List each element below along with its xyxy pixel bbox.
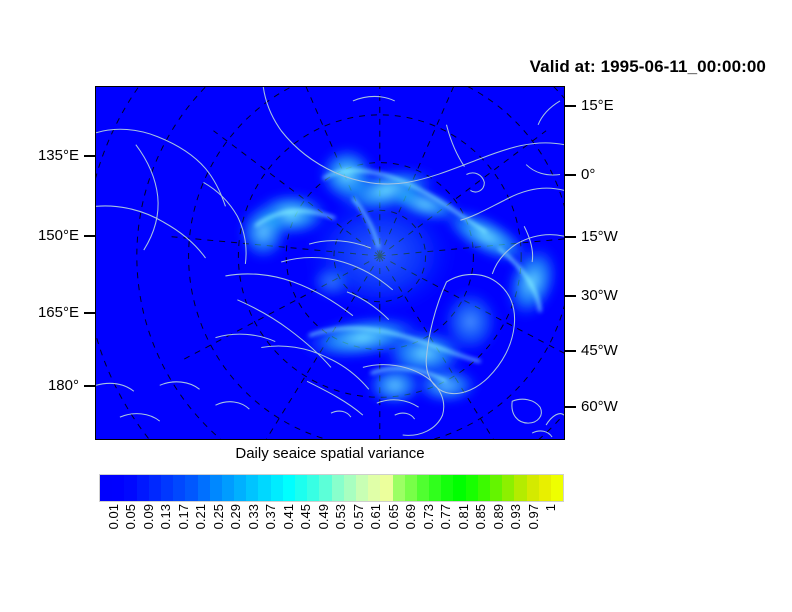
tick-mark-right-3: [565, 295, 576, 297]
tick-mark-left-0: [84, 155, 95, 157]
colorbar-cell-12: [246, 475, 258, 501]
colorbar-tick-14: 0.57: [352, 504, 365, 529]
axis-label-right-1: 0°: [581, 167, 595, 182]
colorbar-gradient: [99, 474, 564, 502]
colorbar-cell-11: [234, 475, 246, 501]
colorbar-tick-16: 0.65: [387, 504, 400, 529]
tick-mark-right-4: [565, 350, 576, 352]
colorbar-tick-23: 0.93: [509, 504, 522, 529]
colorbar-tick-22: 0.89: [492, 504, 505, 529]
colorbar-cell-31: [478, 475, 490, 501]
colorbar-cell-5: [161, 475, 173, 501]
colorbar-cell-33: [502, 475, 514, 501]
colorbar-cell-10: [222, 475, 234, 501]
map-plot-area: [95, 86, 565, 440]
axis-label-left-0: 135°E: [38, 148, 79, 163]
tick-mark-left-2: [84, 312, 95, 314]
colorbar-tick-6: 0.25: [212, 504, 225, 529]
colorbar-caption: Daily seaice spatial variance: [95, 445, 565, 462]
colorbar-cell-16: [295, 475, 307, 501]
colorbar: [99, 474, 564, 502]
tick-mark-right-1: [565, 174, 576, 176]
colorbar-tick-5: 0.21: [194, 504, 207, 529]
colorbar-tick-11: 0.45: [299, 504, 312, 529]
colorbar-cell-15: [283, 475, 295, 501]
colorbar-cell-14: [271, 475, 283, 501]
colorbar-tick-labels: 0.010.050.090.130.170.210.250.290.330.37…: [99, 504, 564, 564]
colorbar-tick-4: 0.17: [177, 504, 190, 529]
colorbar-cell-17: [307, 475, 319, 501]
colorbar-cell-26: [417, 475, 429, 501]
colorbar-cell-25: [405, 475, 417, 501]
axis-label-right-4: 45°W: [581, 343, 618, 358]
colorbar-cell-23: [380, 475, 392, 501]
colorbar-cell-37: [551, 475, 563, 501]
tick-mark-right-0: [565, 105, 576, 107]
tick-mark-right-2: [565, 236, 576, 238]
colorbar-tick-0: 0.01: [107, 504, 120, 529]
colorbar-tick-21: 0.85: [474, 504, 487, 529]
colorbar-cell-13: [258, 475, 270, 501]
colorbar-tick-9: 0.37: [264, 504, 277, 529]
axis-label-left-1: 150°E: [38, 228, 79, 243]
colorbar-tick-3: 0.13: [159, 504, 172, 529]
colorbar-cell-27: [429, 475, 441, 501]
tick-mark-left-3: [84, 385, 95, 387]
arctic-map: [96, 87, 564, 439]
colorbar-cell-2: [124, 475, 136, 501]
colorbar-cell-18: [319, 475, 331, 501]
axis-label-left-3: 180°: [48, 378, 79, 393]
tick-mark-left-1: [84, 235, 95, 237]
colorbar-tick-10: 0.41: [282, 504, 295, 529]
colorbar-cell-1: [112, 475, 124, 501]
colorbar-tick-20: 0.81: [457, 504, 470, 529]
colorbar-cell-35: [527, 475, 539, 501]
colorbar-cell-22: [368, 475, 380, 501]
colorbar-tick-17: 0.69: [404, 504, 417, 529]
colorbar-tick-2: 0.09: [142, 504, 155, 529]
colorbar-cell-4: [149, 475, 161, 501]
colorbar-tick-19: 0.77: [439, 504, 452, 529]
colorbar-cell-21: [356, 475, 368, 501]
colorbar-cell-20: [344, 475, 356, 501]
axis-label-right-3: 30°W: [581, 288, 618, 303]
colorbar-tick-15: 0.61: [369, 504, 382, 529]
colorbar-cell-8: [198, 475, 210, 501]
colorbar-tick-1: 0.05: [124, 504, 137, 529]
page-title: Valid at: 1995-06-11_00:00:00: [0, 57, 766, 77]
axis-label-right-5: 60°W: [581, 399, 618, 414]
colorbar-tick-24: 0.97: [527, 504, 540, 529]
colorbar-cell-36: [539, 475, 551, 501]
axis-label-left-2: 165°E: [38, 305, 79, 320]
colorbar-cell-9: [210, 475, 222, 501]
colorbar-cell-30: [466, 475, 478, 501]
axis-label-right-2: 15°W: [581, 229, 618, 244]
colorbar-cell-24: [393, 475, 405, 501]
tick-mark-right-5: [565, 406, 576, 408]
colorbar-tick-8: 0.33: [247, 504, 260, 529]
colorbar-cell-29: [453, 475, 465, 501]
colorbar-tick-13: 0.53: [334, 504, 347, 529]
colorbar-cell-32: [490, 475, 502, 501]
colorbar-cell-28: [441, 475, 453, 501]
colorbar-tick-18: 0.73: [422, 504, 435, 529]
axis-label-right-0: 15°E: [581, 98, 614, 113]
colorbar-tick-7: 0.29: [229, 504, 242, 529]
colorbar-cell-19: [332, 475, 344, 501]
colorbar-tick-12: 0.49: [317, 504, 330, 529]
colorbar-tick-25: 1: [544, 504, 557, 511]
colorbar-cell-0: [100, 475, 112, 501]
colorbar-cell-34: [514, 475, 526, 501]
colorbar-cell-7: [185, 475, 197, 501]
colorbar-cell-3: [137, 475, 149, 501]
colorbar-cell-6: [173, 475, 185, 501]
